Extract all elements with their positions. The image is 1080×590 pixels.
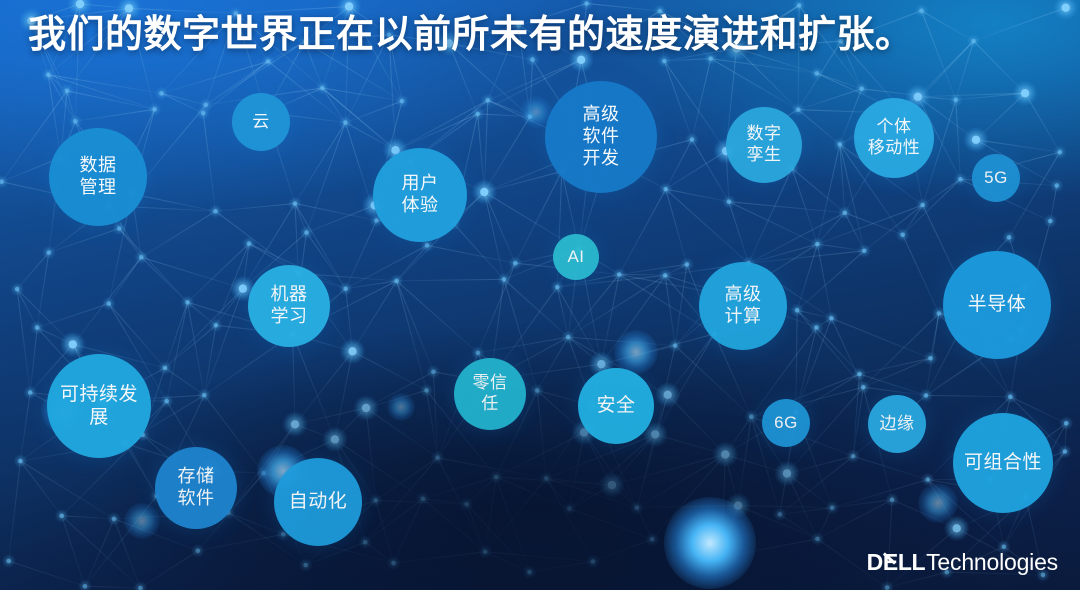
logo-dell-wordmark: DELL (867, 549, 925, 576)
topic-bubble[interactable]: 个体移动性 (854, 98, 934, 178)
logo-e-slash-icon (883, 552, 896, 564)
page-title: 我们的数字世界正在以前所未有的速度演进和扩张。 (28, 12, 1058, 60)
topic-bubble[interactable]: 自动化 (274, 458, 362, 546)
topic-bubble[interactable]: 机器学习 (248, 265, 330, 347)
topic-bubble-label: 高级软件开发 (575, 104, 628, 170)
topic-bubble[interactable]: AI (553, 234, 599, 280)
topic-bubble[interactable]: 零信任 (454, 358, 526, 430)
topic-bubble[interactable]: 5G (972, 154, 1020, 202)
topic-bubble-label: 零信任 (465, 373, 516, 414)
topic-bubble-label: 机器学习 (263, 284, 316, 328)
topic-bubble-label: 安全 (588, 394, 643, 417)
topic-bubble[interactable]: 高级软件开发 (545, 81, 657, 193)
topic-bubble[interactable]: 可持续发展 (47, 354, 151, 458)
topic-bubble-label: AI (559, 247, 592, 268)
logo-technologies-wordmark: Technologies (926, 549, 1058, 576)
topic-bubble[interactable]: 用户体验 (373, 148, 467, 242)
topic-bubble-label: 自动化 (281, 490, 356, 513)
topic-bubble[interactable]: 高级计算 (699, 262, 787, 350)
topic-bubble[interactable]: 可组合性 (953, 413, 1053, 513)
topic-bubble-label: 5G (976, 168, 1016, 189)
topic-bubble[interactable]: 边缘 (868, 395, 926, 453)
topic-bubble-label: 半导体 (960, 293, 1035, 316)
topic-bubble-label: 数字孪生 (739, 124, 790, 165)
topic-bubble[interactable]: 半导体 (943, 251, 1051, 359)
topic-bubble[interactable]: 云 (232, 93, 290, 151)
topic-bubble[interactable]: 数据管理 (49, 128, 147, 226)
topic-bubble-label: 可持续发展 (47, 383, 151, 429)
topic-bubble-label: 存储软件 (170, 466, 223, 510)
topic-bubble-label: 个体移动性 (860, 117, 929, 158)
topic-bubble-label: 数据管理 (72, 155, 125, 199)
dell-technologies-logo: DELL Technologies (867, 549, 1058, 576)
slide-canvas: 我们的数字世界正在以前所未有的速度演进和扩张。 数据管理云用户体验高级软件开发数… (0, 0, 1080, 590)
topic-bubble-label: 可组合性 (956, 451, 1050, 474)
topic-bubble[interactable]: 安全 (578, 368, 654, 444)
topic-bubble-label: 边缘 (872, 414, 923, 435)
topic-bubble-label: 用户体验 (394, 173, 447, 217)
topic-bubble-label: 高级计算 (717, 284, 770, 328)
topic-bubble-label: 6G (766, 413, 806, 434)
topic-bubble[interactable]: 6G (762, 399, 810, 447)
topic-bubble[interactable]: 存储软件 (155, 447, 237, 529)
topic-bubble-label: 云 (244, 112, 278, 133)
topic-bubble[interactable]: 数字孪生 (726, 107, 802, 183)
